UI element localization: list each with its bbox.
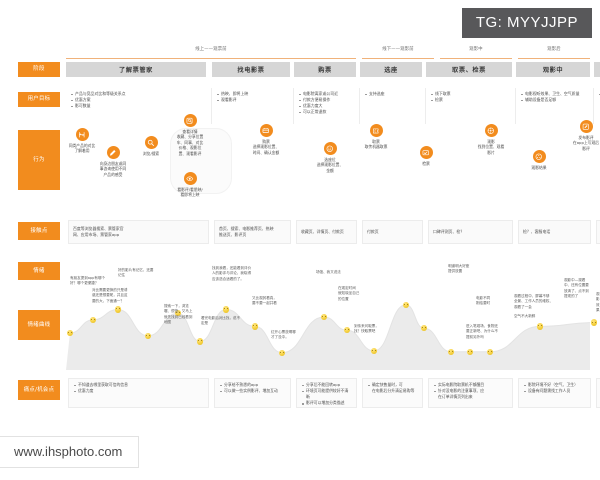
behavior-label: 购票 选择观影位置、 时间、确认金额: [243, 139, 289, 156]
behavior-label: 检票: [403, 161, 449, 167]
smile-icon: [324, 142, 337, 155]
seat-icon: [260, 124, 273, 137]
behavior-node-10[interactable]: 观影结果: [516, 150, 562, 170]
stage-chip-6[interactable]: 观影后: [594, 62, 600, 77]
site-watermark: www.ihsphoto.com: [0, 436, 139, 468]
emotion-point: [197, 338, 203, 344]
pain-point-item: 优惠力度: [74, 388, 204, 394]
touchpoint-cell-0: 百度等浏览器搜索、票管家官 网、应用市场、票管家app: [68, 220, 209, 244]
touchpoint-cell-5: 检？、客服电话: [518, 220, 591, 244]
user-goal-item: 检票: [431, 97, 511, 103]
row-label-behavior: 行为: [18, 130, 60, 190]
behavior-node-5[interactable]: 购票 选择观影位置、 时间、确认金额: [243, 124, 289, 155]
emotion-point: [448, 349, 454, 355]
behavior-label: 查看详情 收藏、分享位置 车、同事、对比 价格、观影位 置、观看影评: [167, 129, 213, 157]
telegram-watermark: TG: MYYJJPP: [462, 8, 592, 38]
stage-chip-2[interactable]: 购票: [294, 62, 356, 77]
behavior-node-7[interactable]: 取票 取传机器取票: [353, 124, 399, 150]
emotion-point: [223, 306, 229, 312]
phase-after: 观影后: [518, 46, 590, 59]
pain-point-cell-3: 确定快售量时，可 在电影后分升清足易购等: [362, 378, 423, 408]
emotion-point: [467, 349, 473, 355]
touchpoint-cell-6: 我的订单、看过评分页、 影评页: [596, 220, 600, 244]
touchpoint-text: 首页、搜索、电影推荐页、热映 推送页、影评页: [219, 226, 273, 239]
touchpoint-cell-1: 首页、搜索、电影推荐页、热映 推送页、影评页: [214, 220, 291, 244]
user-goal-cell-5: 电影视听效果、卫生、空气质量辅助设备是否足够: [516, 88, 594, 124]
user-goal-cell-6: 写影评收藏或与观影片: [594, 88, 600, 124]
film-icon: [485, 124, 498, 137]
emotion-annotation: 到传来问取票， 找？快取票吧: [354, 324, 379, 335]
eye-icon: [184, 172, 197, 185]
phase-during: 观影中: [440, 46, 512, 59]
pain-point-cell-1: 分享给不熟悉的app可以做一些实例影评、增加互动: [214, 378, 291, 408]
stage-chip-1[interactable]: 找电影票: [212, 62, 290, 77]
phase-offline-pre: 线下——观影前: [362, 46, 434, 59]
behavior-node-6[interactable]: 选座位 选择观影位置、 金额: [307, 142, 353, 173]
pain-point-item: 设备有问题需找工作人员: [524, 388, 586, 394]
emotion-annotation: 红开心票放啊哪 才了没中。: [271, 330, 296, 341]
behavior-label: 选座位 选择观影位置、 金额: [307, 157, 353, 174]
emotion-annotation: 在观定时间 就知晓坐自己 的位置: [338, 286, 359, 302]
stage-chip-0[interactable]: 了解票管家: [66, 62, 206, 77]
check-icon: [420, 146, 433, 159]
row-label-painpoint: 痛点/机会点: [18, 380, 60, 400]
emotion-annotation: 明道明大好座 提供放置: [448, 264, 469, 275]
behavior-label: 观影结果: [516, 165, 562, 171]
pain-point-cell-4: 实际电影院取票机不够醒目针对没电影的注意事项、应 在订单详情页列出来: [428, 378, 513, 408]
stage-chip-3[interactable]: 选座: [360, 62, 422, 77]
stage-header-band: 线上——观票前 线下——观影前 观影中 观影后 了解票管家 找电影票 购票 选座…: [66, 46, 590, 78]
pain-point-item: 针对没电影的注意事项、应 在订单详情页列出来: [434, 388, 508, 400]
pain-point-cell-2: 分享后不能回转app环境页可能提供较好不清晰影评可以增加分类描述: [296, 378, 357, 408]
emotion-annotation: 找到我看，还能看到评价 人的影评与评论，我晓得 应该选合适看的了。: [212, 266, 251, 282]
ticket-icon: [370, 124, 383, 137]
stage-chip-5[interactable]: 观影中: [516, 62, 590, 77]
row-label-emotion: 情绪: [18, 262, 60, 280]
emotion-annotation: 又比观其看真， 要不要一起并看: [252, 296, 277, 307]
touchpoint-text: 收藏页、详情页、付款页: [301, 229, 344, 235]
emotion-annotation: 观看过程中、屏幕不够 全景、工作人员的维权、 观看了一会: [514, 294, 553, 310]
user-goal-cell-2: 电影院离家或公司近付款方便易操作优惠力度大可以正常退款: [294, 88, 360, 124]
user-goal-item: 可以正常退款: [299, 109, 355, 115]
behavior-label: 观影 找到位置、观看 影片: [468, 139, 514, 156]
behavior-node-3[interactable]: 查看详情 收藏、分享位置 车、同事、对比 价格、观影位 置、观看影评: [167, 114, 213, 156]
emotion-curve-chart: 有朋友提到app有哪个 好？哪个更便捷？对比需要更换的只是诱 惑还是想要呢，并且…: [66, 258, 590, 370]
pain-point-item: 可以做一些实例影评、增加互动: [220, 388, 286, 394]
write-icon: [580, 120, 593, 133]
search-icon: [145, 136, 158, 149]
compare-icon: [76, 128, 89, 141]
user-goal-item: 辅助设备是否足够: [521, 97, 589, 103]
emotion-annotation: 好的影片有记忆，还要 记住: [118, 268, 153, 279]
touchpoint-cell-4: 口碑评测页、检？: [428, 220, 513, 244]
behavior-label: 发布影评 在app上写观后 影评: [563, 135, 600, 152]
pain-point-item: 环境页可能提供较好不清晰: [302, 388, 352, 400]
pain-point-cell-5: 影院环境不好（空气、卫生）设备有问题需找工作人员: [518, 378, 591, 408]
emotion-point: [537, 323, 543, 329]
row-label-stage: 阶段: [18, 62, 60, 77]
touchpoint-text: 百度等浏览器搜索、票管家官 网、应用市场、票管家app: [73, 226, 124, 239]
emotion-annotation: 电影不同 刚给要时: [476, 296, 490, 307]
user-goal-item: 影可数量: [71, 103, 207, 109]
behavior-node-9[interactable]: 观影 找到位置、观看 影片: [468, 124, 514, 155]
emotion-annotation: 搜索一下，浏览 喔、很快、又马上 就先找到已经看到 地图: [164, 304, 192, 325]
behavior-node-11[interactable]: 发布影评 在app上写观后 影评: [563, 120, 600, 151]
emotion-point: [403, 302, 409, 308]
user-goal-cell-1: 热映、即将上映观看影评: [212, 88, 294, 124]
behavior-label: 取票 取传机器取票: [353, 139, 399, 150]
emotion-annotation: 观影中—观看 中、还有位置要 放清了、点不到 提现的了: [564, 278, 589, 299]
row-label-user-goal: 用户目标: [18, 92, 60, 107]
phase-online-pre: 线上——观票前: [66, 46, 356, 59]
touchpoint-text: 检？、客服电话: [523, 229, 550, 235]
emotion-annotation: 场馆、我又说法: [316, 270, 341, 275]
touchpoint-text: 口碑评测页、检？: [433, 229, 464, 235]
edit-icon: [107, 146, 120, 159]
emotion-annotation: 看完电影后对比找，说不 定是: [201, 316, 240, 327]
journey-map-canvas: 阶段 用户目标 行为 接触点 情绪 情绪曲线 痛点/机会点 线上——观票前 线下…: [0, 0, 600, 480]
behavior-node-4[interactable]: 看影评/看悉映/ 看即将上映: [167, 172, 213, 198]
row-label-emotion-curve: 情绪曲线: [18, 310, 60, 340]
pain-point-cell-0: 不知道去哪里获取可信的信息优惠力度: [68, 378, 209, 408]
emotion-annotation: 有朋友提到app有哪个 好？哪个更便捷？: [70, 276, 105, 287]
ticket-search-icon: [184, 114, 197, 127]
user-goal-item: 支持选座: [365, 91, 421, 97]
behavior-label: 看影评/看悉映/ 看即将上映: [167, 187, 213, 198]
user-goal-cell-4: 线下取票检票: [426, 88, 516, 124]
pain-point-cell-6: 输入影评或能用户: [596, 378, 600, 408]
emotion-point: [487, 349, 493, 355]
touchpoint-cell-2: 收藏页、详情页、付款页: [296, 220, 357, 244]
pain-point-item: 确定快售量时，可 在电影后分升清足易购等: [368, 382, 418, 394]
emotion-point: [279, 350, 285, 356]
emotion-annotation: 观影效果: [596, 292, 600, 313]
share-icon: [533, 150, 546, 163]
stage-chip-4[interactable]: 取票、检票: [426, 62, 512, 77]
emotion-annotation: 进入笔观场、食物还 要正新吧、为什么不 提前另外吗: [466, 324, 498, 340]
user-goal-cell-3: 支持选座: [360, 88, 426, 124]
behavior-label: 向身边朋友或同 事咨询使用不同 产品的感受: [90, 161, 136, 178]
user-goal-item: 观看影评: [217, 97, 289, 103]
emotion-point: [252, 323, 258, 329]
emotion-point: [115, 306, 121, 312]
emotion-annotation: 空气不大新鲜: [514, 314, 535, 319]
touchpoint-text: 付款页: [367, 229, 379, 235]
behavior-node-8[interactable]: 检票: [403, 146, 449, 166]
touchpoint-cell-3: 付款页: [362, 220, 423, 244]
emotion-annotation: 对比需要更换的只是诱 惑还是想要呢，并且这 要的大，下面通一？: [92, 288, 127, 304]
pain-point-item: 影评可以增加分类描述: [302, 400, 352, 406]
row-label-touchpoint: 接触点: [18, 222, 60, 240]
emotion-point: [591, 319, 597, 325]
